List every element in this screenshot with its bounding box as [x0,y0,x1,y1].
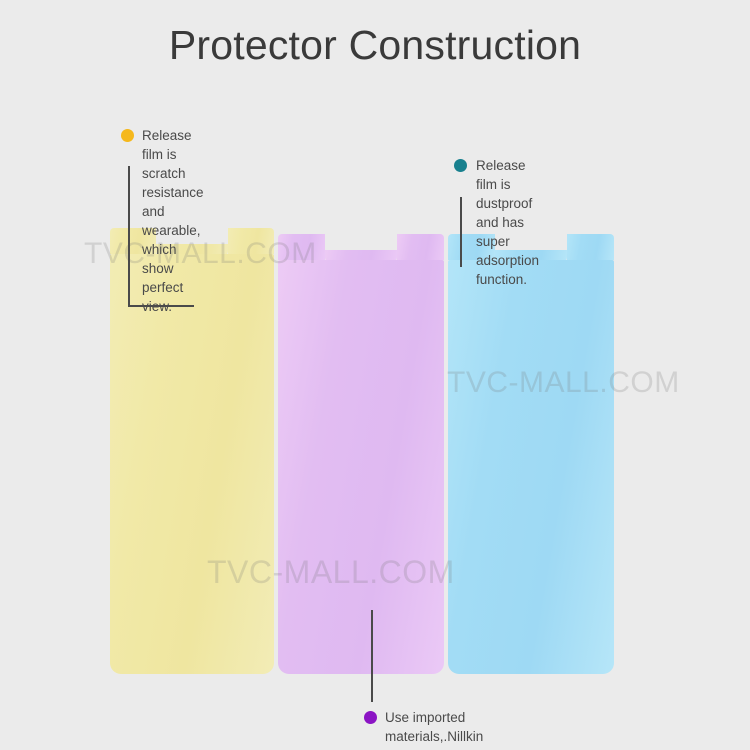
protector-construction-figure: Protector Construction TVC-MALL.COM TVC-… [0,0,750,750]
sheet-body [110,254,274,674]
callout-dustproof-text: Release film is dustproof and has super … [476,156,539,289]
leader-line-scratch-resistance-vertical [128,166,130,307]
bullet-dot-icon [454,159,467,172]
sheet-top-right-edge [567,234,614,260]
watermark-middle-right: TVC-MALL.COM [447,366,680,400]
sheet-release-film-bottom [448,234,614,674]
sheet-body [278,260,444,674]
bullet-dot-icon [121,129,134,142]
leader-line-dustproof-vertical [460,197,462,267]
leader-line-imported-materials-vertical [371,610,373,702]
sheet-top-right-edge [397,234,444,260]
watermark-bottom-center: TVC-MALL.COM [207,554,455,591]
sheet-protective-film [278,234,444,674]
callout-scratch-resistance-text: Release film is scratch resistance and w… [142,126,204,316]
page-title: Protector Construction [0,22,750,69]
leader-line-scratch-resistance-horizontal [128,305,194,307]
sheet-body [448,260,614,674]
bullet-dot-icon [364,711,377,724]
callout-imported-materials-text: Use imported materials,.Nillkin Matte Pr… [385,708,483,750]
